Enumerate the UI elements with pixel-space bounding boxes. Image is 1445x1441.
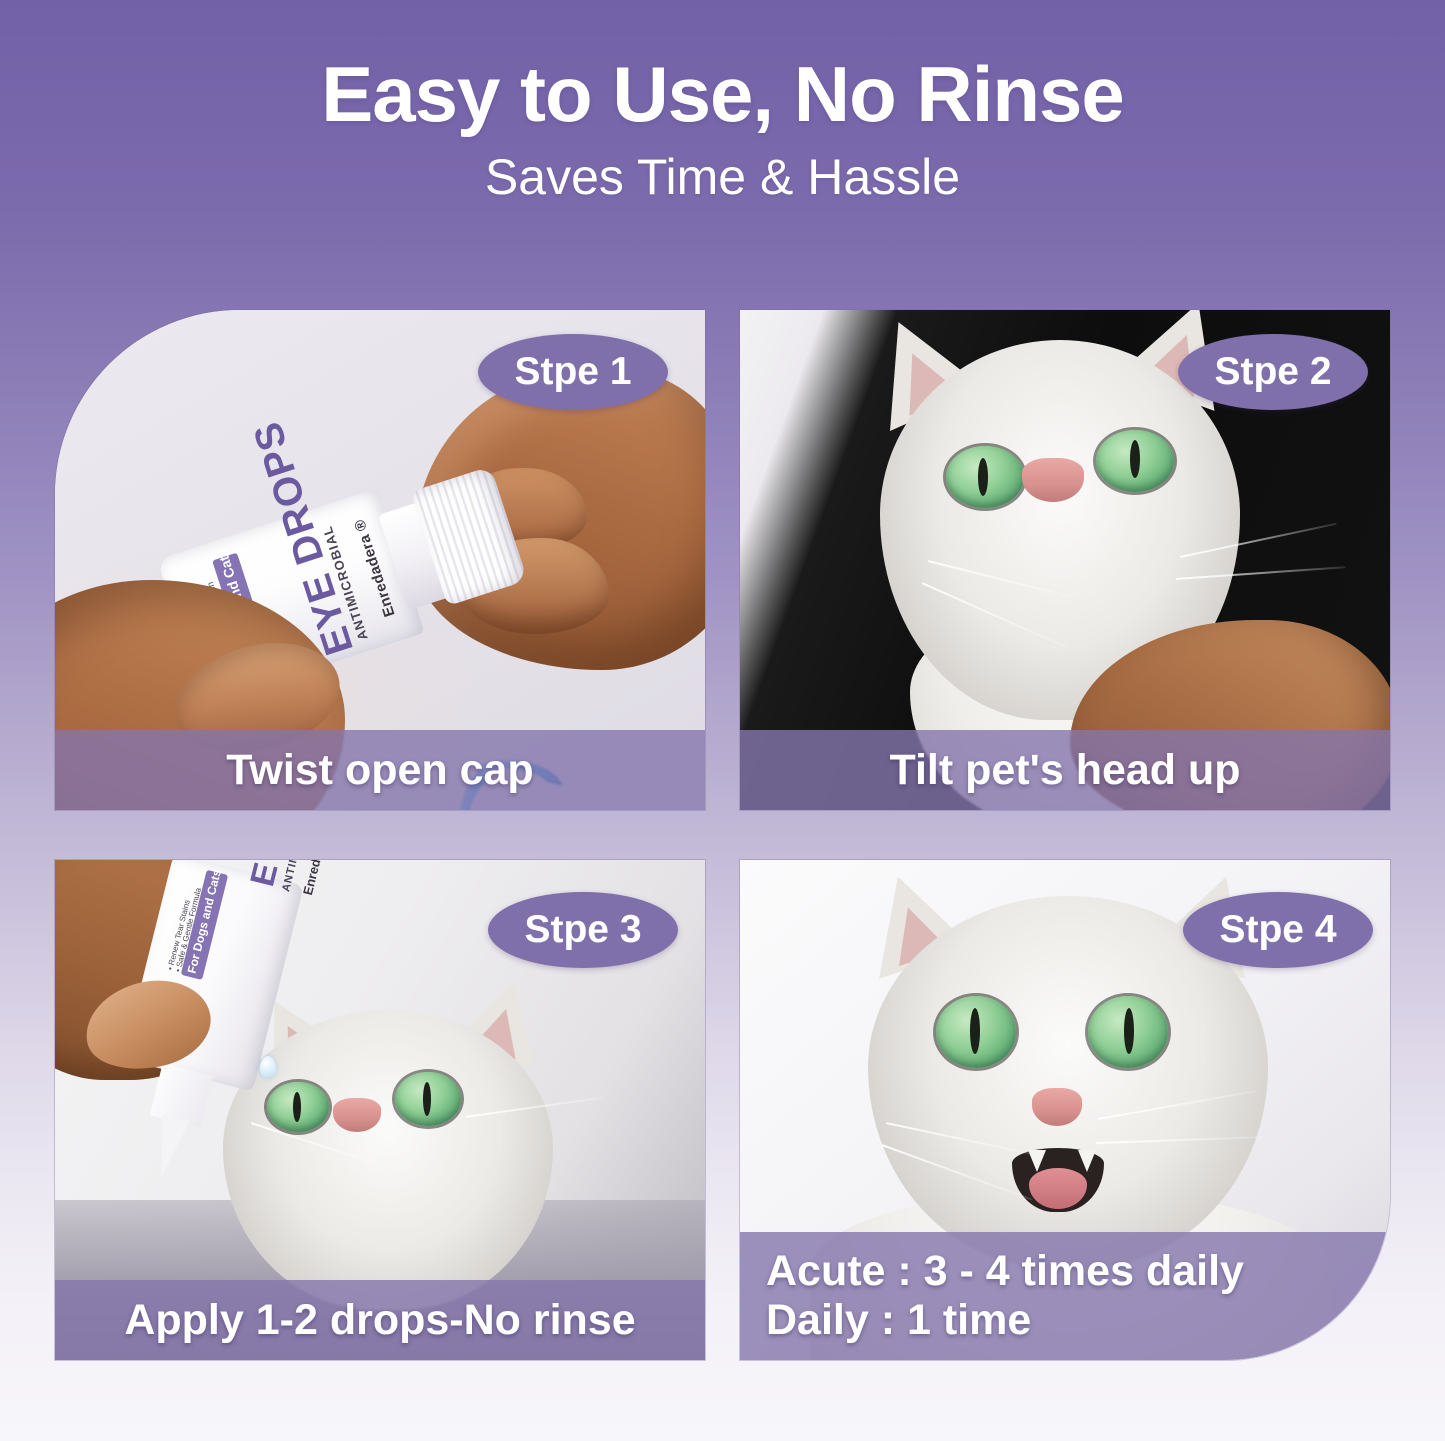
page-subtitle: Saves Time & Hassle [0,150,1445,205]
step-1-badge: Stpe 1 [478,334,668,410]
bottle-dropper-tip [147,1114,189,1181]
cat-pupil [970,1008,980,1054]
step-4-caption: Acute : 3 - 4 times daily Daily : 1 time [740,1232,1390,1360]
steps-grid: • Renew Tear Stains • Safe & Gentle Form… [55,310,1390,1385]
step-3-caption: Apply 1-2 drops-No rinse [55,1280,705,1360]
step-1-caption: Twist open cap [55,730,705,810]
cat-pupil [1130,440,1140,478]
eye-drop-icon [260,1056,276,1078]
cat-pupil [1124,1008,1134,1054]
step-4-caption-line-1: Acute : 3 - 4 times daily [766,1247,1244,1296]
step-2-badge: Stpe 2 [1178,334,1368,410]
cat-eye-right [1096,430,1174,492]
cat-tongue [1029,1168,1088,1209]
cat-pupil [293,1092,301,1122]
cat-eye-right [1088,996,1168,1068]
step-panel-4[interactable]: Stpe 4 Acute : 3 - 4 times daily Daily :… [740,860,1390,1360]
step-4-badge: Stpe 4 [1183,892,1373,968]
cat-pupil [978,458,988,496]
bottle-brand: Enredadera ® [300,860,335,897]
cat-eye-right [395,1072,461,1126]
step-4-caption-line-2: Daily : 1 time [766,1296,1031,1345]
cat-eye-left [946,446,1024,508]
header: Easy to Use, No Rinse Saves Time & Hassl… [0,0,1445,205]
cat-eye-left [936,996,1016,1068]
page-title: Easy to Use, No Rinse [0,52,1445,136]
step-2-caption: Tilt pet's head up [740,730,1390,810]
step-3-badge: Stpe 3 [488,892,678,968]
cat-fang [1078,1150,1096,1172]
step-panel-1[interactable]: • Renew Tear Stains • Safe & Gentle Form… [55,310,705,810]
step-panel-2[interactable]: Stpe 2 Tilt pet's head up [740,310,1390,810]
step-panel-3[interactable]: • Renew Tear Stains • Safe & Gentle Form… [55,860,705,1360]
cat-pupil [423,1082,431,1116]
